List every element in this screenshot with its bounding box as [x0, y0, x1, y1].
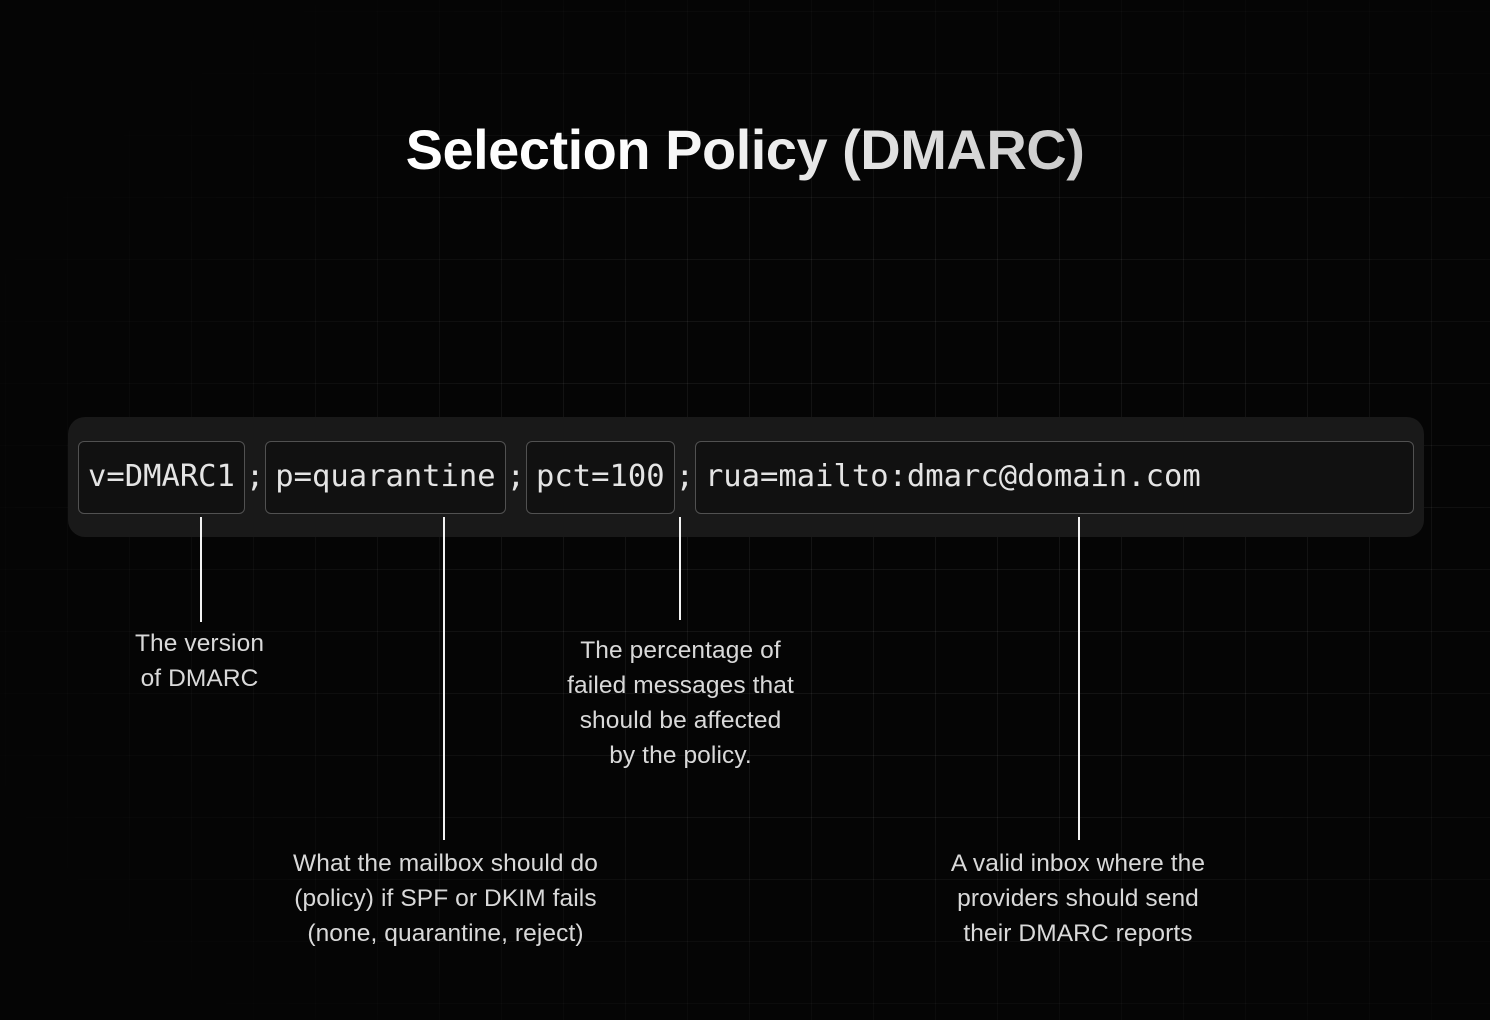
record-separator-1: ;	[245, 462, 265, 492]
record-segment-percent[interactable]: pct=100	[526, 441, 675, 514]
record-segment-rua[interactable]: rua=mailto:dmarc@domain.com	[695, 441, 1414, 514]
annotation-policy: What the mailbox should do (policy) if S…	[243, 846, 648, 951]
dmarc-record-row: v=DMARC1 ; p=quarantine ; pct=100 ; rua=…	[78, 441, 1414, 514]
annotation-percent: The percentage of failed messages that s…	[508, 633, 853, 773]
record-separator-3: ;	[675, 462, 695, 492]
slide-canvas: Selection Policy (DMARC) v=DMARC1 ; p=qu…	[0, 0, 1490, 1020]
connector-line-policy	[443, 517, 445, 840]
page-title: Selection Policy (DMARC)	[0, 113, 1490, 187]
annotation-rua: A valid inbox where the providers should…	[898, 846, 1258, 951]
connector-line-rua	[1078, 517, 1080, 840]
connector-line-percent	[679, 517, 681, 620]
record-segment-policy[interactable]: p=quarantine	[265, 441, 505, 514]
connector-line-version	[200, 517, 202, 622]
record-segment-version[interactable]: v=DMARC1	[78, 441, 245, 514]
dmarc-record-panel: v=DMARC1 ; p=quarantine ; pct=100 ; rua=…	[68, 417, 1424, 537]
annotation-version: The version of DMARC	[62, 626, 337, 696]
record-separator-2: ;	[506, 462, 526, 492]
